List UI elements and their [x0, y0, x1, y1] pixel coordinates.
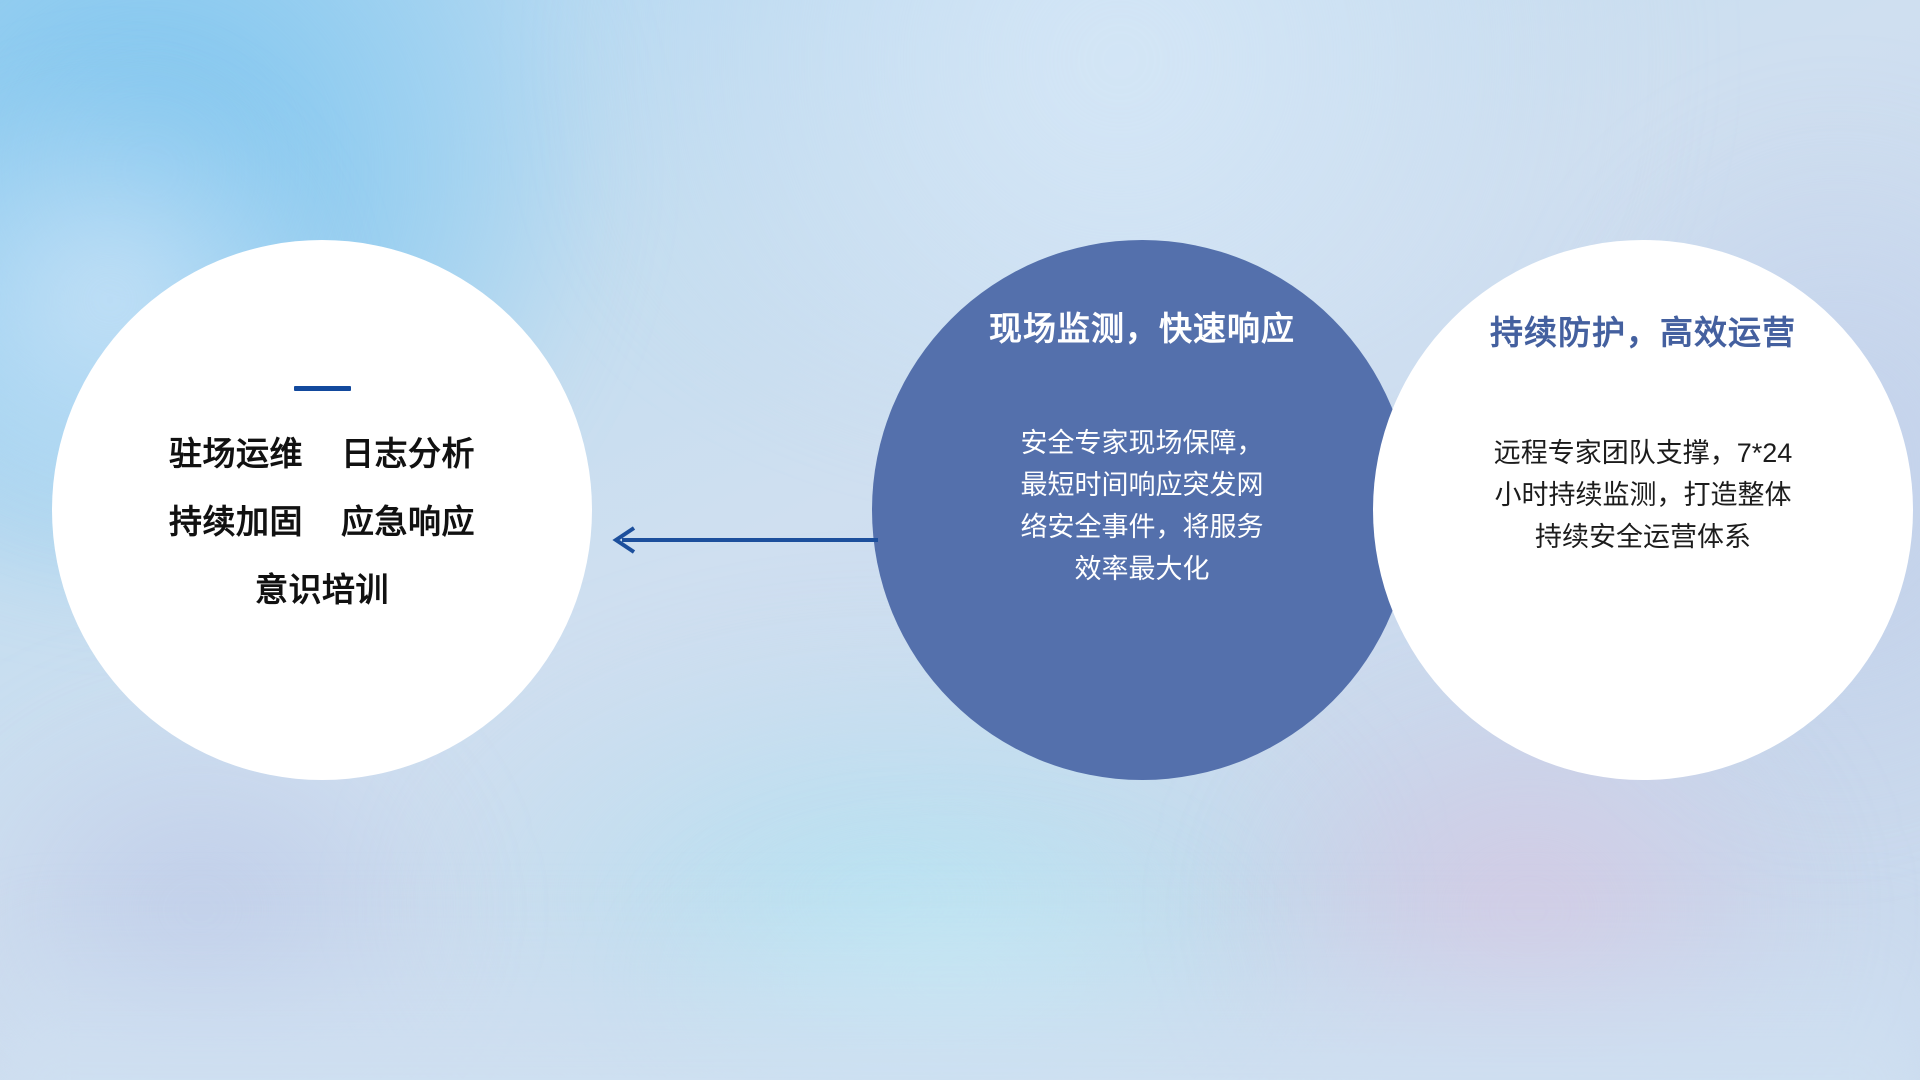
onsite-body-line: 效率最大化 [977, 548, 1307, 590]
onsite-body-line: 安全专家现场保障， [977, 422, 1307, 464]
accent-dash-icon [294, 386, 351, 391]
onsite-body-line: 最短时间响应突发网 [977, 464, 1307, 506]
onsite-body: 安全专家现场保障， 最短时间响应突发网 络安全事件，将服务 效率最大化 [977, 422, 1307, 590]
remote-body-line: 持续安全运营体系 [1443, 516, 1843, 558]
capability-item: 应急响应 [341, 505, 475, 538]
capabilities-row-3: 意识培训 [255, 573, 389, 606]
capabilities-row-2: 持续加固 应急响应 [169, 505, 475, 538]
onsite-body-line: 络安全事件，将服务 [977, 506, 1307, 548]
remote-body: 远程专家团队支撑，7*24 小时持续监测，打造整体 持续安全运营体系 [1443, 432, 1843, 558]
slide-canvas: 驻场运维 日志分析 持续加固 应急响应 意识培训 现场监测，快速响应 安全专家现… [0, 0, 1920, 1080]
capability-item: 意识培训 [255, 573, 389, 606]
remote-circle[interactable]: 持续防护，高效运营 远程专家团队支撑，7*24 小时持续监测，打造整体 持续安全… [1373, 240, 1913, 780]
capabilities-circle[interactable]: 驻场运维 日志分析 持续加固 应急响应 意识培训 [52, 240, 592, 780]
flow-arrow-icon [600, 520, 880, 560]
remote-body-line: 远程专家团队支撑，7*24 [1443, 432, 1843, 474]
capabilities-row-1: 驻场运维 日志分析 [169, 437, 475, 470]
remote-title: 持续防护，高效运营 [1490, 306, 1796, 354]
capability-item: 驻场运维 [169, 437, 303, 470]
remote-body-line: 小时持续监测，打造整体 [1443, 474, 1843, 516]
onsite-circle[interactable]: 现场监测，快速响应 安全专家现场保障， 最短时间响应突发网 络安全事件，将服务 … [872, 240, 1412, 780]
capability-item: 日志分析 [341, 437, 475, 470]
onsite-title: 现场监测，快速响应 [989, 302, 1295, 350]
capability-item: 持续加固 [169, 505, 303, 538]
